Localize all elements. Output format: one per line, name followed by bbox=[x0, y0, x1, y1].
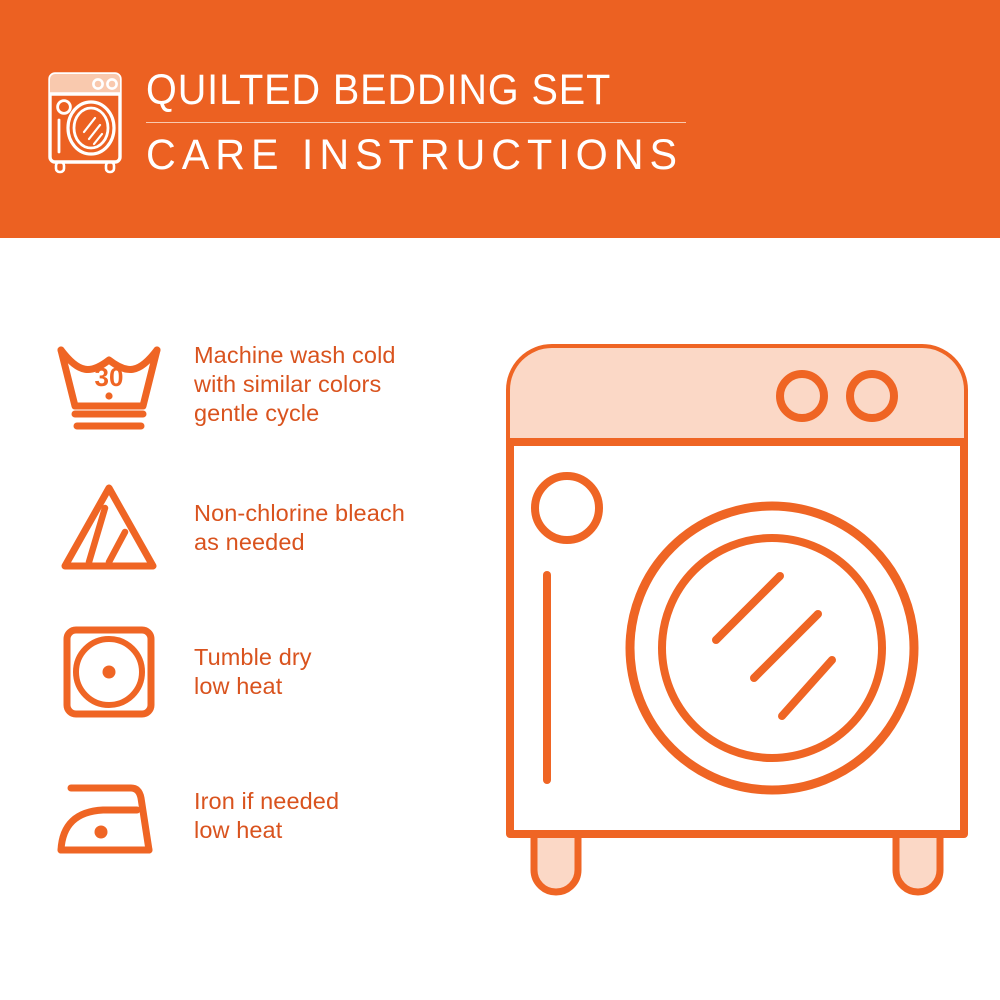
header-content: QUILTED BEDDING SET CARE INSTRUCTIONS bbox=[44, 66, 705, 180]
header-title-group: QUILTED BEDDING SET CARE INSTRUCTIONS bbox=[146, 66, 705, 180]
header-banner: QUILTED BEDDING SET CARE INSTRUCTIONS bbox=[0, 0, 1000, 238]
washing-machine-icon bbox=[44, 70, 130, 174]
list-item: Non-chlorine bleach as needed bbox=[44, 470, 484, 586]
washing-machine-illustration bbox=[492, 330, 982, 930]
title-divider bbox=[146, 122, 686, 123]
list-item-label: Machine wash cold with similar colors ge… bbox=[174, 341, 396, 428]
page-title-secondary: CARE INSTRUCTIONS bbox=[146, 131, 683, 180]
list-item: 30 Machine wash cold with similar colors… bbox=[44, 326, 484, 442]
wash-temperature-value: 30 bbox=[95, 362, 124, 392]
page-title-primary: QUILTED BEDDING SET bbox=[146, 66, 661, 115]
bleach-triangle-icon bbox=[44, 478, 174, 578]
list-item: Tumble dry low heat bbox=[44, 614, 484, 730]
list-item-label: Tumble dry low heat bbox=[174, 643, 312, 701]
list-item: Iron if needed low heat bbox=[44, 758, 484, 874]
iron-icon bbox=[44, 766, 174, 866]
tumble-dry-icon bbox=[44, 622, 174, 722]
care-instructions-list: 30 Machine wash cold with similar colors… bbox=[44, 326, 484, 902]
content-area: 30 Machine wash cold with similar colors… bbox=[0, 238, 1000, 1000]
list-item-label: Non-chlorine bleach as needed bbox=[174, 499, 405, 557]
wash-tub-icon: 30 bbox=[44, 334, 174, 434]
list-item-label: Iron if needed low heat bbox=[174, 787, 339, 845]
